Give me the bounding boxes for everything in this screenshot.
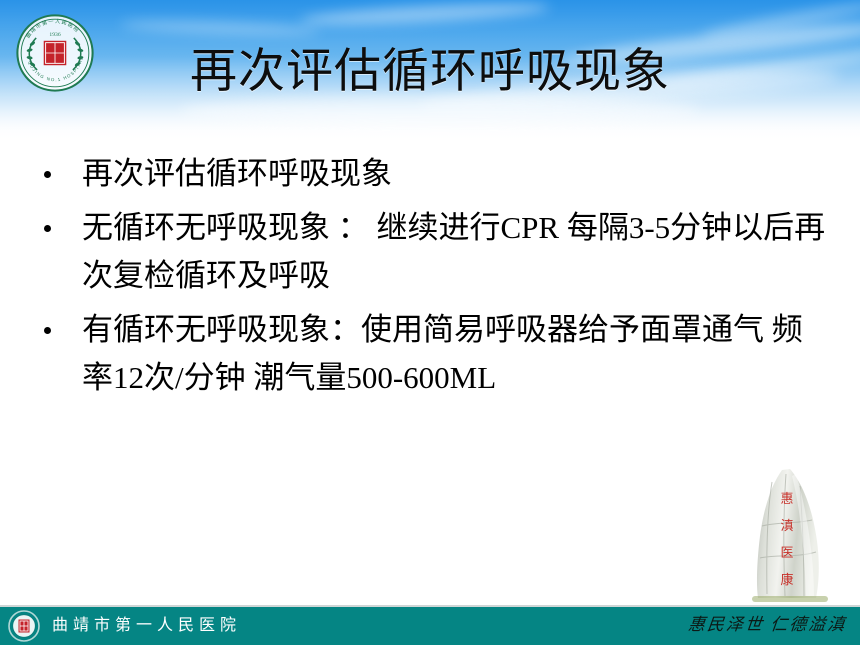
svg-text:医: 医 (780, 545, 793, 560)
footer-hospital-name: 曲靖市第一人民医院 (52, 613, 241, 639)
footer-motto: 惠民泽世 仁德溢滇 (686, 612, 847, 638)
svg-text:惠: 惠 (780, 491, 793, 506)
cloud-wisp (300, 0, 550, 29)
bullet-dot-icon (44, 171, 51, 178)
svg-text:1936: 1936 (49, 32, 60, 38)
bullet-text: 无循环无呼吸现象 ： 继续进行CPR 每隔3-5分钟以后再次复检循环及呼吸 (82, 210, 825, 293)
svg-text:康: 康 (780, 572, 793, 587)
bullet-item: 无循环无呼吸现象 ： 继续进行CPR 每隔3-5分钟以后再次复检循环及呼吸 (0, 204, 860, 300)
cloud-wisp (700, 0, 860, 42)
svg-text:滇: 滇 (780, 518, 793, 533)
bullet-text: 有循环无呼吸现象：使用简易呼吸器给予面罩通气 频率12次/分钟 潮气量500-6… (82, 312, 803, 395)
bullet-dot-icon (44, 327, 51, 334)
stone-monument-icon: 惠 滇 医 康 (742, 466, 838, 608)
cloud-wisp (180, 96, 700, 126)
bullet-item: 再次评估循环呼吸现象 (0, 150, 860, 198)
slide-body: 再次评估循环呼吸现象 无循环无呼吸现象 ： 继续进行CPR 每隔3-5分钟以后再… (0, 150, 860, 408)
bullet-dot-icon (44, 225, 51, 232)
cloud-wisp (120, 19, 320, 38)
bullet-item: 有循环无呼吸现象：使用简易呼吸器给予面罩通气 频率12次/分钟 潮气量500-6… (0, 306, 860, 402)
bullet-text: 再次评估循环呼吸现象 (82, 156, 392, 191)
slide: 1936 曲靖市第一人民医院 QUJING NO.1 HOSPITAL 再次评估… (0, 0, 860, 645)
bullet-list: 再次评估循环呼吸现象 无循环无呼吸现象 ： 继续进行CPR 每隔3-5分钟以后再… (0, 150, 860, 402)
hospital-seal-small-icon (8, 610, 40, 642)
slide-title: 再次评估循环呼吸现象 (0, 44, 860, 100)
